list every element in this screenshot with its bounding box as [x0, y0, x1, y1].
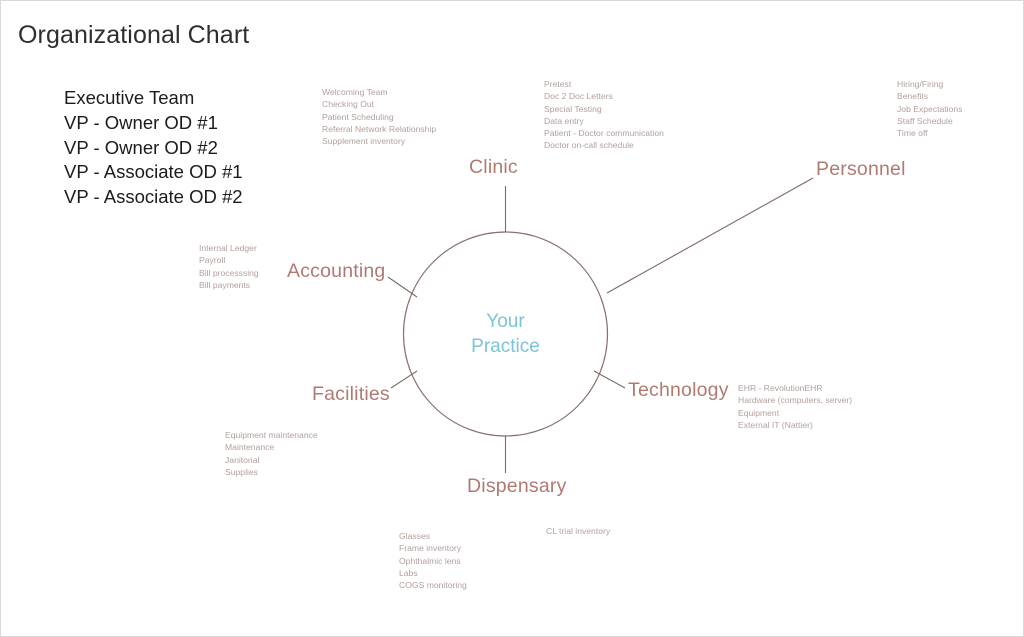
connector-personnel	[607, 178, 813, 293]
detail-item: Internal Ledger	[199, 242, 259, 254]
detail-item: COGS monitoring	[399, 579, 467, 591]
branch-label-dispensary[interactable]: Dispensary	[467, 475, 567, 498]
executive-team-member: VP - Associate OD #2	[64, 185, 243, 210]
detail-item: Doctor on-call schedule	[544, 139, 664, 151]
detail-item: Time off	[897, 127, 962, 139]
detail-list-facilities: Equipment maintenance Maintenance Janito…	[225, 429, 318, 478]
center-node-line2: Practice	[405, 334, 606, 359]
branch-label-clinic[interactable]: Clinic	[469, 156, 518, 179]
detail-item: Bill processsing	[199, 267, 259, 279]
detail-item: Equipment	[738, 407, 852, 419]
detail-item: Referral Network Relationship	[322, 123, 436, 135]
detail-item: Patient - Doctor communication	[544, 127, 664, 139]
center-node-line1: Your	[405, 309, 606, 334]
detail-item: Checking Out	[322, 98, 436, 110]
detail-item: EHR - RevolutionEHR	[738, 382, 852, 394]
branch-label-technology[interactable]: Technology	[628, 379, 729, 402]
organizational-chart-canvas: Organizational Chart Executive Team VP -…	[0, 0, 1024, 637]
detail-item: Benefits	[897, 90, 962, 102]
detail-item: Ophthalmic lens	[399, 555, 467, 567]
detail-list-clinic-left: Welcoming Team Checking Out Patient Sche…	[322, 86, 436, 147]
page-title: Organizational Chart	[18, 21, 249, 50]
detail-item: Supplies	[225, 466, 318, 478]
branch-label-facilities[interactable]: Facilities	[312, 383, 390, 406]
connector-accounting	[388, 277, 417, 297]
executive-team-block: Executive Team VP - Owner OD #1 VP - Own…	[64, 86, 243, 210]
detail-item: Frame inventory	[399, 542, 467, 554]
detail-list-personnel: Hiring/Firing Benefits Job Expectations …	[897, 78, 962, 139]
detail-item: Data entry	[544, 115, 664, 127]
detail-list-dispensary: Glasses Frame inventory Ophthalmic lens …	[399, 530, 467, 591]
detail-item: Equipment maintenance	[225, 429, 318, 441]
detail-item: Hardware (computers, server)	[738, 394, 852, 406]
branch-label-accounting[interactable]: Accounting	[287, 260, 385, 283]
detail-item: Pretest	[544, 78, 664, 90]
executive-team-member: VP - Owner OD #2	[64, 136, 243, 161]
detail-item: Doc 2 Doc Letters	[544, 90, 664, 102]
detail-list-dispensary-extra: CL trial inventory	[546, 525, 610, 537]
detail-list-clinic-right: Pretest Doc 2 Doc Letters Special Testin…	[544, 78, 664, 152]
connector-facilities	[391, 371, 417, 388]
detail-item: Patient Scheduling	[322, 111, 436, 123]
detail-list-accounting: Internal Ledger Payroll Bill processsing…	[199, 242, 259, 291]
executive-team-member: VP - Owner OD #1	[64, 111, 243, 136]
detail-item: Supplement inventory	[322, 135, 436, 147]
detail-item: Staff Schedule	[897, 115, 962, 127]
detail-item: Hiring/Firing	[897, 78, 962, 90]
detail-item: Welcoming Team	[322, 86, 436, 98]
center-node-label: Your Practice	[405, 309, 606, 359]
detail-item: Bill payments	[199, 279, 259, 291]
detail-item: Job Expectations	[897, 103, 962, 115]
executive-team-member: VP - Associate OD #1	[64, 160, 243, 185]
detail-item: External IT (Nattier)	[738, 419, 852, 431]
branch-label-personnel[interactable]: Personnel	[816, 158, 906, 181]
detail-item: CL trial inventory	[546, 525, 610, 537]
detail-item: Labs	[399, 567, 467, 579]
detail-item: Janitorial	[225, 454, 318, 466]
detail-item: Glasses	[399, 530, 467, 542]
connector-technology	[594, 371, 625, 388]
detail-list-technology: EHR - RevolutionEHR Hardware (computers,…	[738, 382, 852, 431]
detail-item: Payroll	[199, 254, 259, 266]
detail-item: Special Testing	[544, 103, 664, 115]
executive-team-heading: Executive Team	[64, 86, 243, 111]
detail-item: Maintenance	[225, 441, 318, 453]
